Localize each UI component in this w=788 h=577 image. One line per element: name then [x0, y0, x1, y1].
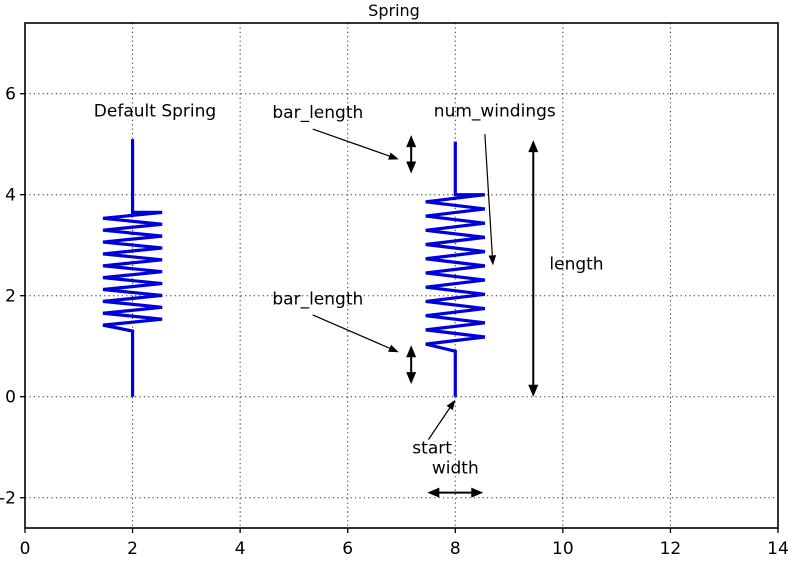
- annotation-default-spring: Default Spring: [94, 101, 216, 121]
- bar-length-dim-bottom-head-top: [406, 345, 416, 357]
- annotation-start: start: [412, 438, 452, 458]
- y-tick-label: 6: [5, 85, 16, 105]
- spring-curve-annotated: [426, 142, 485, 397]
- x-tick-label: 4: [235, 539, 246, 559]
- annotation-num-windings: num_windings: [434, 101, 556, 121]
- x-tick-label: 0: [20, 539, 31, 559]
- annotation-bar-length-top: bar_length: [272, 103, 363, 123]
- page-title: Spring: [368, 1, 420, 20]
- x-tick-label: 14: [767, 539, 788, 559]
- x-tick-label: 6: [342, 539, 353, 559]
- bar-length-bottom-arrow-head: [388, 345, 399, 352]
- start-arrow-shaft: [428, 406, 450, 439]
- start-arrow-head: [447, 400, 456, 410]
- x-tick-label: 10: [552, 539, 574, 559]
- x-tick-label: 2: [127, 539, 138, 559]
- width-head-left: [427, 488, 439, 498]
- spring-curves: [103, 139, 485, 397]
- length-head-bottom: [528, 385, 538, 397]
- bar-length-dim-top-head-bottom: [406, 161, 416, 173]
- figure-canvas: 024681012146420-2 Spring Default Spring …: [0, 0, 788, 577]
- annotation-length: length: [549, 254, 603, 274]
- y-tick-label: -2: [0, 489, 16, 509]
- bar-length-top-arrow-head: [388, 152, 399, 159]
- num-windings-arrow-head: [489, 255, 497, 265]
- bar-length-dim-bottom-head-bottom: [406, 372, 416, 384]
- y-tick-label: 2: [5, 287, 16, 307]
- num-windings-arrow-shaft: [485, 134, 493, 257]
- width-head-right: [471, 488, 483, 498]
- annotation-bar-length-bottom: bar_length: [272, 289, 363, 309]
- x-tick-label: 8: [450, 539, 461, 559]
- bar-length-dim-top-head-top: [406, 135, 416, 147]
- y-tick-label: 4: [5, 186, 16, 206]
- bar-length-bottom-arrow-shaft: [313, 315, 392, 349]
- spring-curve-default: [103, 139, 162, 397]
- x-tick-label: 12: [660, 539, 682, 559]
- y-tick-label: 0: [5, 388, 16, 408]
- spring-plot: 024681012146420-2 Spring Default Spring …: [0, 0, 788, 577]
- annotation-width: width: [432, 459, 479, 479]
- length-head-top: [528, 140, 538, 152]
- bar-length-top-arrow-shaft: [313, 129, 392, 157]
